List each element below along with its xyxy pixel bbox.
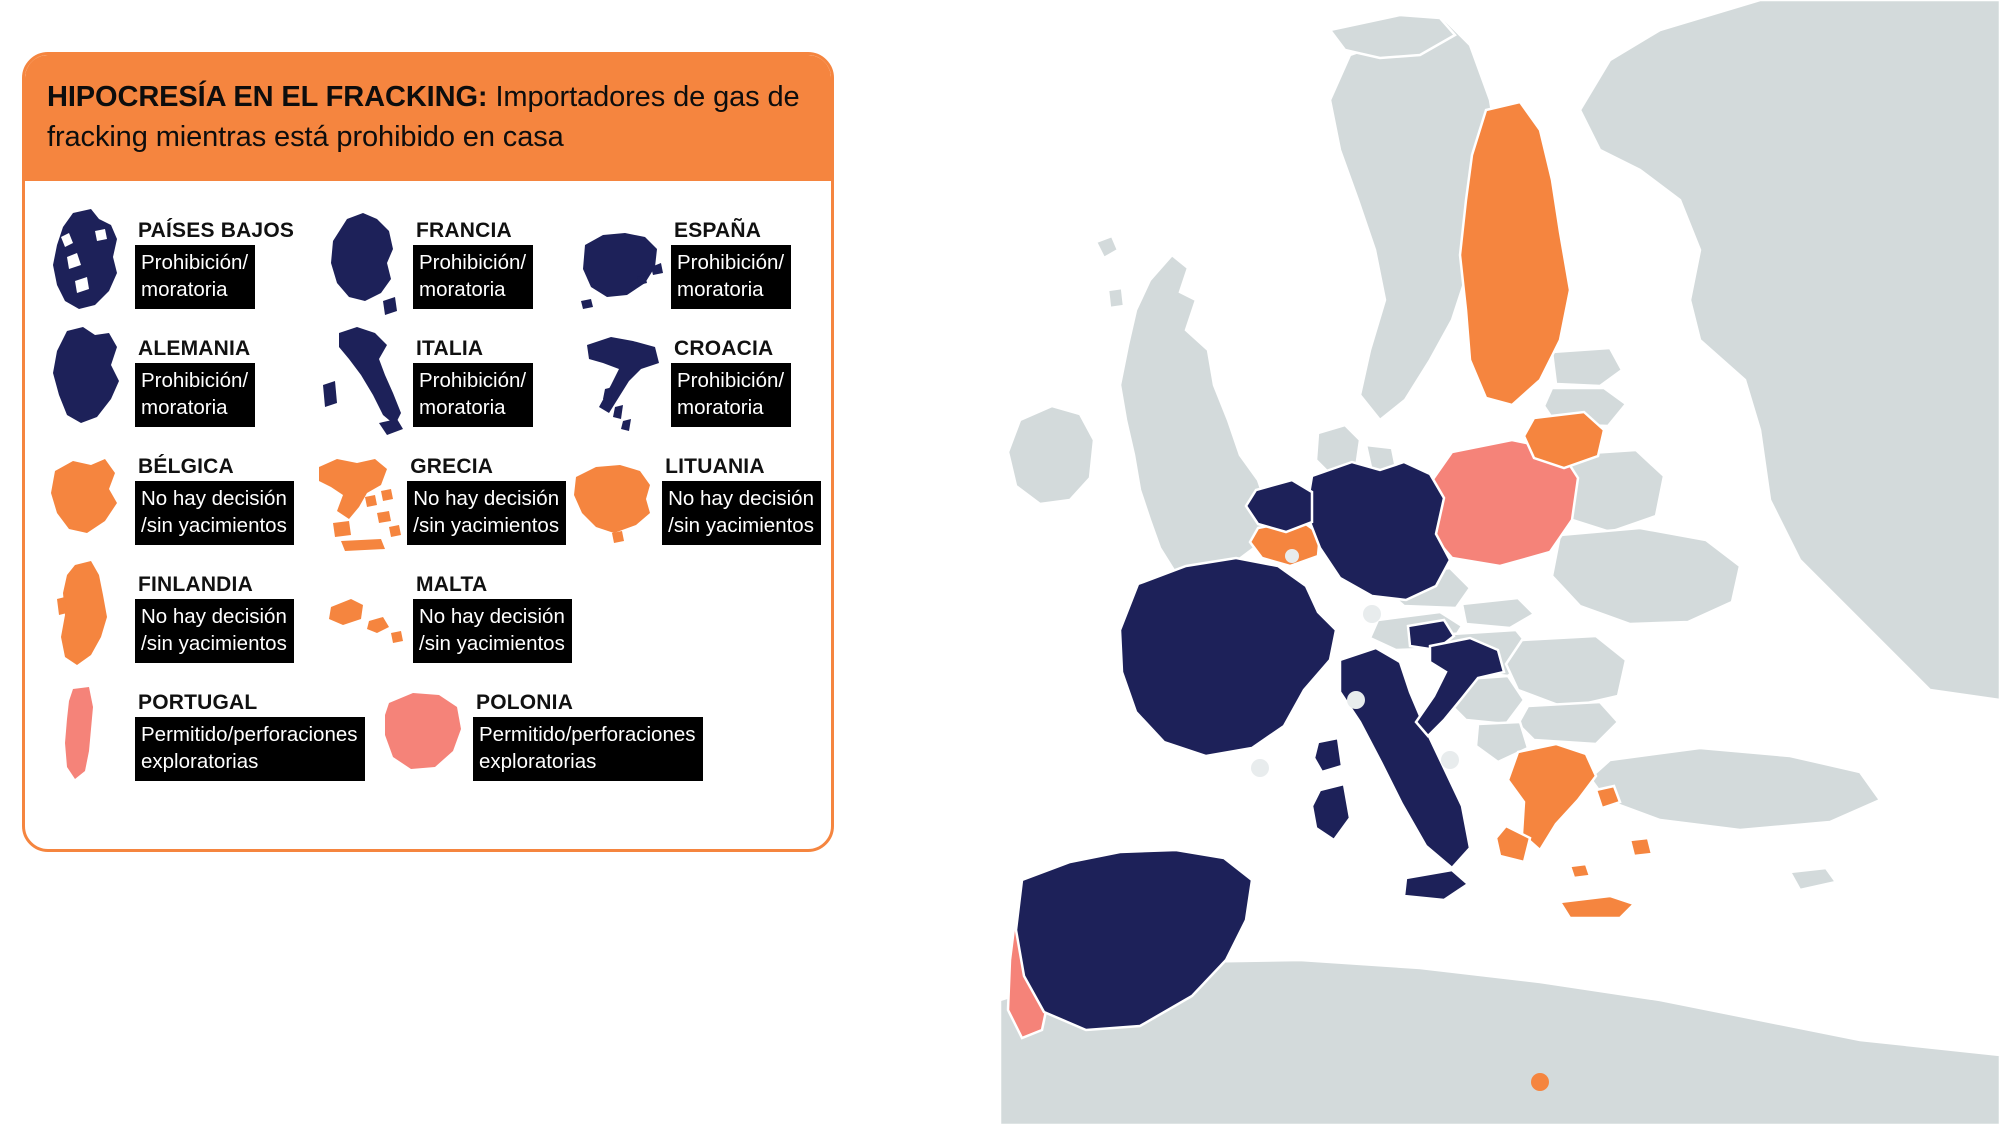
country-info: FRANCIA Prohibición/ moratoria bbox=[413, 205, 533, 309]
country-row: ALEMANIA Prohibición/ moratoria ITALIA bbox=[39, 323, 821, 441]
belgium-map-icon bbox=[39, 441, 131, 559]
country-info: POLONIA Permitido/perforaciones explorat… bbox=[473, 677, 703, 781]
status-badge: Prohibición/ moratoria bbox=[413, 245, 533, 309]
country-grid: PAÍSES BAJOS Prohibición/ moratoria FRAN… bbox=[25, 181, 831, 795]
portugal-map-icon bbox=[39, 677, 131, 795]
hebrides-shape bbox=[1108, 288, 1124, 308]
map-dot bbox=[1441, 751, 1459, 769]
country-card-alemania[interactable]: ALEMANIA Prohibición/ moratoria bbox=[39, 323, 317, 441]
country-info: ESPAÑA Prohibición/ moratoria bbox=[671, 205, 791, 309]
netherlands-map-icon bbox=[39, 205, 131, 323]
country-card-croacia[interactable]: CROACIA Prohibición/ moratoria bbox=[575, 323, 791, 441]
status-badge: Prohibición/ moratoria bbox=[135, 245, 255, 309]
country-info: CROACIA Prohibición/ moratoria bbox=[671, 323, 791, 427]
status-badge: Permitido/perforaciones exploratorias bbox=[473, 717, 703, 781]
country-card-paises-bajos[interactable]: PAÍSES BAJOS Prohibición/ moratoria bbox=[39, 205, 317, 323]
country-card-francia[interactable]: FRANCIA Prohibición/ moratoria bbox=[317, 205, 575, 323]
country-card-espana[interactable]: ESPAÑA Prohibición/ moratoria bbox=[575, 205, 791, 323]
status-badge: Permitido/perforaciones exploratorias bbox=[135, 717, 365, 781]
corsica-map-shape bbox=[1314, 738, 1342, 772]
country-row: FINLANDIA No hay decisión /sin yacimient… bbox=[39, 559, 821, 677]
country-card-belgica[interactable]: BÉLGICA No hay decisión /sin yacimientos bbox=[39, 441, 311, 559]
country-name: BÉLGICA bbox=[135, 455, 294, 479]
country-card-portugal[interactable]: PORTUGAL Permitido/perforaciones explora… bbox=[39, 677, 377, 795]
europe-map-svg bbox=[1000, 0, 2000, 1125]
country-row: PORTUGAL Permitido/perforaciones explora… bbox=[39, 677, 821, 795]
status-badge: Prohibición/ moratoria bbox=[671, 363, 791, 427]
greece-map-icon bbox=[311, 441, 403, 559]
country-name: FRANCIA bbox=[413, 219, 533, 243]
country-info: ALEMANIA Prohibición/ moratoria bbox=[135, 323, 255, 427]
card-header: HIPOCRESÍA EN EL FRACKING: Importadores … bbox=[25, 55, 831, 181]
bulgaria-shape bbox=[1518, 702, 1618, 744]
country-card-malta[interactable]: MALTA No hay decisión /sin yacimientos bbox=[317, 559, 575, 677]
country-info: MALTA No hay decisión /sin yacimientos bbox=[413, 559, 572, 663]
status-badge: No hay decisión /sin yacimientos bbox=[135, 481, 294, 545]
malta-map-icon bbox=[317, 559, 409, 677]
country-name: PAÍSES BAJOS bbox=[135, 219, 294, 243]
germany-map-icon bbox=[39, 323, 131, 441]
status-badge: No hay decisión /sin yacimientos bbox=[407, 481, 566, 545]
status-badge: No hay decisión /sin yacimientos bbox=[662, 481, 821, 545]
map-dot-orange bbox=[1531, 1073, 1549, 1091]
map-dot bbox=[1251, 759, 1269, 777]
country-row: BÉLGICA No hay decisión /sin yacimientos bbox=[39, 441, 821, 559]
croatia-map-icon bbox=[575, 323, 667, 441]
map-dot bbox=[1363, 605, 1381, 623]
country-name: FINLANDIA bbox=[135, 573, 294, 597]
country-card-lituania[interactable]: LITUANIA No hay decisión /sin yacimiento… bbox=[566, 441, 821, 559]
country-name: GRECIA bbox=[407, 455, 566, 479]
greece-isle2-shape bbox=[1570, 864, 1590, 878]
country-name: LITUANIA bbox=[662, 455, 821, 479]
country-name: PORTUGAL bbox=[135, 691, 365, 715]
country-row: PAÍSES BAJOS Prohibición/ moratoria FRAN… bbox=[39, 205, 821, 323]
status-badge: Prohibición/ moratoria bbox=[135, 363, 255, 427]
country-card-italia[interactable]: ITALIA Prohibición/ moratoria bbox=[317, 323, 575, 441]
lithuania-map-icon bbox=[566, 441, 658, 559]
status-badge: Prohibición/ moratoria bbox=[671, 245, 791, 309]
poland-map-icon bbox=[377, 677, 469, 795]
country-info: LITUANIA No hay decisión /sin yacimiento… bbox=[662, 441, 821, 545]
spain-map-icon bbox=[575, 205, 667, 323]
country-card-finlandia[interactable]: FINLANDIA No hay decisión /sin yacimient… bbox=[39, 559, 317, 677]
country-info: GRECIA No hay decisión /sin yacimientos bbox=[407, 441, 566, 545]
country-info: PAÍSES BAJOS Prohibición/ moratoria bbox=[135, 205, 294, 309]
page-title: HIPOCRESÍA EN EL FRACKING: Importadores … bbox=[47, 77, 811, 157]
legend-card: HIPOCRESÍA EN EL FRACKING: Importadores … bbox=[22, 52, 834, 852]
country-info: PORTUGAL Permitido/perforaciones explora… bbox=[135, 677, 365, 781]
finland-map-icon bbox=[39, 559, 131, 677]
country-name: ALEMANIA bbox=[135, 337, 255, 361]
map-dot bbox=[1285, 549, 1299, 563]
infographic-root: HIPOCRESÍA EN EL FRACKING: Importadores … bbox=[0, 0, 2000, 1125]
status-badge: No hay decisión /sin yacimientos bbox=[135, 599, 294, 663]
page-title-strong: HIPOCRESÍA EN EL FRACKING: bbox=[47, 81, 488, 113]
greece-rhodes-shape bbox=[1630, 838, 1652, 856]
country-info: ITALIA Prohibición/ moratoria bbox=[413, 323, 533, 427]
country-name: ITALIA bbox=[413, 337, 533, 361]
country-name: MALTA bbox=[413, 573, 572, 597]
country-card-polonia[interactable]: POLONIA Permitido/perforaciones explorat… bbox=[377, 677, 703, 795]
country-name: POLONIA bbox=[473, 691, 703, 715]
status-badge: No hay decisión /sin yacimientos bbox=[413, 599, 572, 663]
italy-map-icon bbox=[317, 323, 409, 441]
ireland-shape bbox=[1008, 406, 1094, 504]
france-map-icon bbox=[317, 205, 409, 323]
country-info: FINLANDIA No hay decisión /sin yacimient… bbox=[135, 559, 294, 663]
country-card-grecia[interactable]: GRECIA No hay decisión /sin yacimientos bbox=[311, 441, 566, 559]
country-name: CROACIA bbox=[671, 337, 791, 361]
country-name: ESPAÑA bbox=[671, 219, 791, 243]
country-info: BÉLGICA No hay decisión /sin yacimientos bbox=[135, 441, 294, 545]
status-badge: Prohibición/ moratoria bbox=[413, 363, 533, 427]
map-dot bbox=[1347, 691, 1365, 709]
